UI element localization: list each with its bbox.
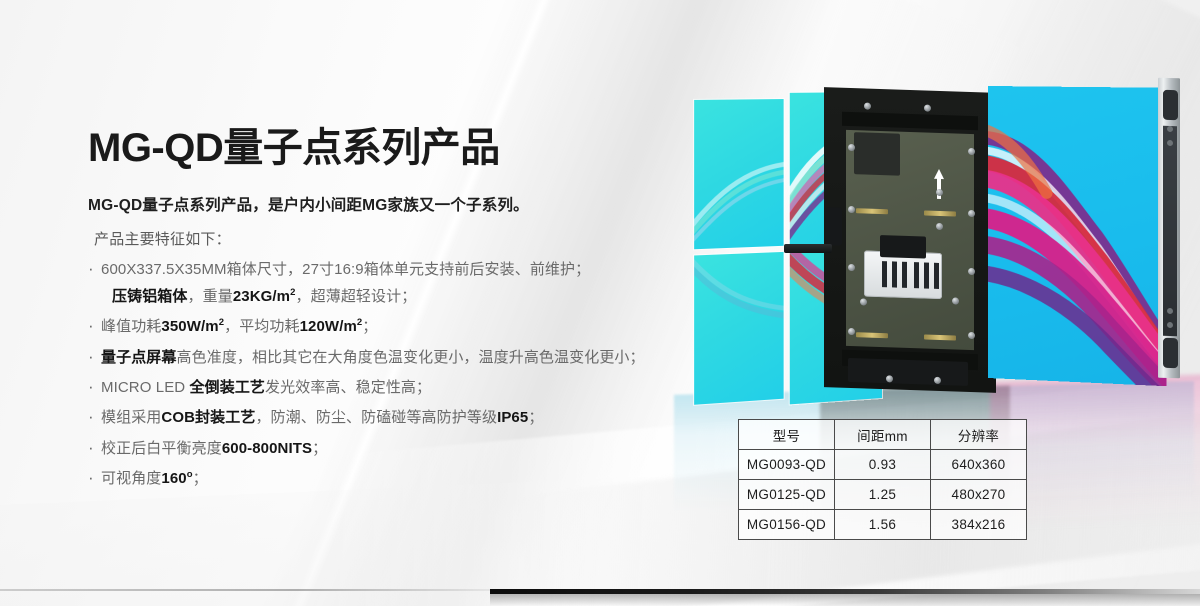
lead-paragraph: MG-QD量子点系列产品，是户内小间距MG家族又一个子系列。 bbox=[88, 193, 748, 215]
table-cell-1: 1.25 bbox=[835, 480, 931, 510]
cabinet-contact-strip bbox=[856, 208, 888, 214]
screw-icon bbox=[934, 377, 941, 384]
table-row: MG0125-QD1.25480x270 bbox=[739, 480, 1027, 510]
panel-frame-corner bbox=[1163, 338, 1178, 368]
led-cabinet-rear bbox=[824, 87, 996, 393]
screw-icon bbox=[968, 210, 975, 217]
table-cell-2: 384x216 bbox=[931, 510, 1027, 540]
spec-table: 型号间距mm分辨率 MG0093-QD0.93640x360MG0125-QD1… bbox=[738, 419, 1027, 540]
screw-icon bbox=[848, 328, 855, 335]
table-cell-0: MG0156-QD bbox=[739, 510, 835, 540]
features-subheading: 产品主要特征如下： bbox=[94, 228, 748, 249]
wave-graphic bbox=[694, 252, 783, 404]
product-banner: MG-QD量子点系列产品 MG-QD量子点系列产品，是户内小间距MG家族又一个子… bbox=[0, 0, 1200, 606]
wave-graphic bbox=[988, 86, 1167, 386]
table-cell-0: MG0093-QD bbox=[739, 450, 835, 480]
cabinet-contact-strip bbox=[924, 210, 956, 216]
page-title: MG-QD量子点系列产品 bbox=[88, 126, 748, 171]
cabinet-contact-strip bbox=[856, 332, 888, 338]
feature-item-cabinet-size: 600X337.5X35MM箱体尺寸，27寸16:9箱体单元支持前后安装、前维护… bbox=[88, 259, 748, 280]
cabinet-module-block bbox=[880, 235, 926, 259]
feature-list: 600X337.5X35MM箱体尺寸，27寸16:9箱体单元支持前后安装、前维护… bbox=[88, 259, 748, 489]
feature-item-viewing-angle: 可视角度160o； bbox=[88, 468, 748, 489]
screw-icon bbox=[886, 375, 893, 382]
led-panel-cell bbox=[694, 99, 784, 249]
table-cell-2: 480x270 bbox=[931, 480, 1027, 510]
table-header-cell-0: 型号 bbox=[739, 420, 835, 450]
frame-screw-icon bbox=[1167, 126, 1173, 132]
table-cell-0: MG0125-QD bbox=[739, 480, 835, 510]
content-column: MG-QD量子点系列产品 MG-QD量子点系列产品，是户内小间距MG家族又一个子… bbox=[88, 126, 748, 498]
cabinet-module-block bbox=[848, 358, 968, 386]
table-cell-1: 0.93 bbox=[835, 450, 931, 480]
panel-frame-corner bbox=[1163, 90, 1178, 120]
screw-icon bbox=[924, 104, 931, 111]
screw-icon bbox=[968, 148, 975, 155]
cabinet-handle bbox=[826, 207, 842, 246]
frame-screw-icon bbox=[1167, 308, 1173, 314]
product-image bbox=[660, 56, 1200, 476]
screw-icon bbox=[936, 189, 943, 196]
feature-item-power: 峰值功耗350W/m2，平均功耗120W/m2； bbox=[88, 316, 748, 337]
screw-icon bbox=[860, 298, 867, 305]
table-header-cell-2: 分辨率 bbox=[931, 420, 1027, 450]
led-panel-cell bbox=[694, 252, 784, 405]
table-header-cell-1: 间距mm bbox=[835, 420, 931, 450]
screw-icon bbox=[848, 206, 855, 213]
feature-item-brightness: 校正后白平衡亮度600-800NITS； bbox=[88, 438, 748, 459]
led-panel-front bbox=[988, 86, 1167, 386]
feature-item-cob-package: 模组采用COB封装工艺，防潮、防尘、防磕碰等高防护等级IP65； bbox=[88, 407, 748, 428]
panel-frame-strip bbox=[1163, 126, 1177, 336]
screw-icon bbox=[952, 297, 959, 304]
screw-icon bbox=[864, 102, 871, 109]
feature-item-micro-led: MICRO LED 全倒装工艺发光效率高、稳定性高； bbox=[88, 377, 748, 398]
screw-icon bbox=[936, 223, 943, 230]
bottom-dark-bar-fade bbox=[490, 594, 1200, 606]
table-row: MG0093-QD0.93640x360 bbox=[739, 450, 1027, 480]
feature-item-cabinet-material: 压铸铝箱体，重量23KG/m2，超薄超轻设计； bbox=[88, 286, 748, 307]
floor-edge-line bbox=[0, 589, 495, 591]
frame-screw-icon bbox=[1167, 322, 1173, 328]
screw-icon bbox=[968, 332, 975, 339]
wave-graphic bbox=[694, 99, 783, 249]
screw-icon bbox=[848, 144, 855, 151]
table-header-row: 型号间距mm分辨率 bbox=[739, 420, 1027, 450]
feature-item-quantum-dot-screen: 量子点屏幕高色准度，相比其它在大角度色温变化更小，温度升高色温变化更小； bbox=[88, 347, 748, 368]
screw-icon bbox=[968, 268, 975, 275]
table-cell-2: 640x360 bbox=[931, 450, 1027, 480]
cabinet-contact-strip bbox=[924, 334, 956, 340]
cabinet-module-block bbox=[854, 132, 900, 176]
table-cell-1: 1.56 bbox=[835, 510, 931, 540]
screw-icon bbox=[848, 264, 855, 271]
table-row: MG0156-QD1.56384x216 bbox=[739, 510, 1027, 540]
frame-screw-icon bbox=[1167, 140, 1173, 146]
cabinet-link-connector bbox=[784, 244, 832, 253]
cabinet-frame-bar bbox=[842, 112, 978, 131]
